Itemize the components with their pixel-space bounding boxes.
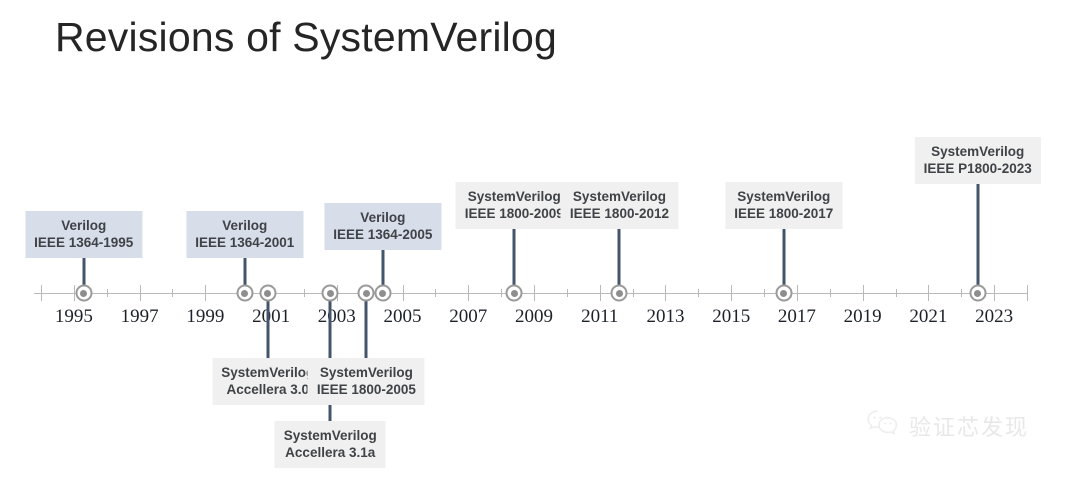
axis-tick (172, 289, 173, 297)
axis-year-label: 2003 (318, 306, 356, 328)
axis-year-label: 2013 (646, 306, 684, 328)
axis-tick (534, 285, 535, 301)
timeline-marker[interactable] (775, 285, 792, 302)
axis-year-label: 2015 (712, 306, 750, 328)
event-label-line1: Verilog (195, 217, 294, 234)
axis-tick (600, 285, 601, 301)
event-label-line1: SystemVerilog (317, 364, 416, 381)
axis-tick (896, 289, 897, 297)
axis-year-label: 2001 (252, 306, 290, 328)
timeline-marker[interactable] (506, 285, 523, 302)
event-label-line2: IEEE 1800-2017 (734, 205, 833, 222)
timeline-axis-line (34, 293, 1028, 294)
event-label-line2: IEEE 1800-2005 (317, 381, 416, 398)
event-label-verilog-1364-1995[interactable]: VerilogIEEE 1364-1995 (25, 211, 142, 258)
axis-tick (304, 289, 305, 297)
axis-tick (107, 289, 108, 297)
event-label-line1: SystemVerilog (221, 364, 314, 381)
axis-tick (567, 289, 568, 297)
axis-tick (731, 285, 732, 301)
event-label-systemverilog-accellera-30[interactable]: SystemVerilogAccellera 3.0 (212, 358, 323, 405)
event-label-verilog-1364-2005[interactable]: VerilogIEEE 1364-2005 (324, 203, 441, 250)
axis-year-label: 2023 (975, 306, 1013, 328)
event-label-line2: Accellera 3.1a (284, 444, 377, 461)
axis-year-label: 2009 (515, 306, 553, 328)
axis-tick (928, 285, 929, 301)
event-stem (618, 229, 621, 293)
event-label-systemverilog-ieee-1800-2009[interactable]: SystemVerilogIEEE 1800-2009 (456, 182, 573, 229)
axis-year-label: 2007 (449, 306, 487, 328)
axis-tick (633, 289, 634, 297)
event-label-line1: Verilog (34, 217, 133, 234)
event-label-line2: IEEE 1364-1995 (34, 234, 133, 251)
event-label-line1: SystemVerilog (924, 143, 1032, 160)
timeline-diagram: 1995199719992001200320052007200920112013… (0, 0, 1080, 478)
axis-tick (994, 285, 995, 301)
axis-tick (665, 285, 666, 301)
event-label-systemverilog-ieee-1800-2017[interactable]: SystemVerilogIEEE 1800-2017 (725, 182, 842, 229)
event-label-line2: IEEE 1800-2009 (465, 205, 564, 222)
axis-tick (140, 285, 141, 301)
event-label-line1: SystemVerilog (465, 188, 564, 205)
event-label-systemverilog-ieee-p1800-2023[interactable]: SystemVerilogIEEE P1800-2023 (915, 137, 1041, 184)
event-label-line1: Verilog (333, 209, 432, 226)
event-label-line2: IEEE 1364-2001 (195, 234, 294, 251)
axis-year-label: 2019 (844, 306, 882, 328)
timeline-marker[interactable] (75, 285, 92, 302)
timeline-marker[interactable] (611, 285, 628, 302)
event-label-verilog-1364-2001[interactable]: VerilogIEEE 1364-2001 (186, 211, 303, 258)
axis-tick (41, 285, 42, 301)
event-stem (513, 229, 516, 293)
event-stem (266, 293, 269, 358)
timeline-marker[interactable] (969, 285, 986, 302)
axis-tick (764, 289, 765, 297)
axis-tick (698, 289, 699, 297)
timeline-marker[interactable] (358, 285, 375, 302)
axis-year-label: 1997 (121, 306, 159, 328)
axis-tick (205, 285, 206, 301)
axis-tick (961, 289, 962, 297)
axis-year-label: 2011 (581, 306, 618, 328)
axis-tick (403, 285, 404, 301)
event-label-systemverilog-ieee-1800-2005[interactable]: SystemVerilogIEEE 1800-2005 (308, 358, 425, 405)
axis-year-label: 1995 (55, 306, 93, 328)
axis-year-label: 2017 (778, 306, 816, 328)
event-label-line1: SystemVerilog (734, 188, 833, 205)
wechat-icon (866, 409, 900, 442)
axis-tick (830, 289, 831, 297)
timeline-marker[interactable] (259, 285, 276, 302)
axis-tick (863, 285, 864, 301)
timeline-marker[interactable] (322, 285, 339, 302)
event-stem (365, 293, 368, 358)
axis-tick (501, 289, 502, 297)
event-stem (782, 229, 785, 293)
event-label-line2: Accellera 3.0 (221, 381, 314, 398)
slide-canvas: Revisions of SystemVerilog 1995199719992… (0, 0, 1080, 478)
event-stem (976, 184, 979, 293)
watermark-text: 验证芯发现 (909, 410, 1029, 442)
timeline-marker[interactable] (236, 285, 253, 302)
event-label-line1: SystemVerilog (284, 427, 377, 444)
axis-tick (797, 285, 798, 301)
axis-year-label: 2005 (384, 306, 422, 328)
axis-year-label: 2021 (909, 306, 947, 328)
event-label-systemverilog-ieee-1800-2012[interactable]: SystemVerilogIEEE 1800-2012 (561, 182, 678, 229)
event-label-line1: SystemVerilog (570, 188, 669, 205)
axis-tick (468, 285, 469, 301)
axis-tick (1027, 285, 1028, 301)
event-label-line2: IEEE P1800-2023 (924, 160, 1032, 177)
event-label-systemverilog-accellera-31a[interactable]: SystemVerilogAccellera 3.1a (275, 421, 386, 468)
event-label-line2: IEEE 1800-2012 (570, 205, 669, 222)
watermark: 验证芯发现 (866, 409, 1029, 442)
axis-tick (435, 289, 436, 297)
timeline-marker[interactable] (374, 285, 391, 302)
axis-year-label: 1999 (186, 306, 224, 328)
event-label-line2: IEEE 1364-2005 (333, 226, 432, 243)
